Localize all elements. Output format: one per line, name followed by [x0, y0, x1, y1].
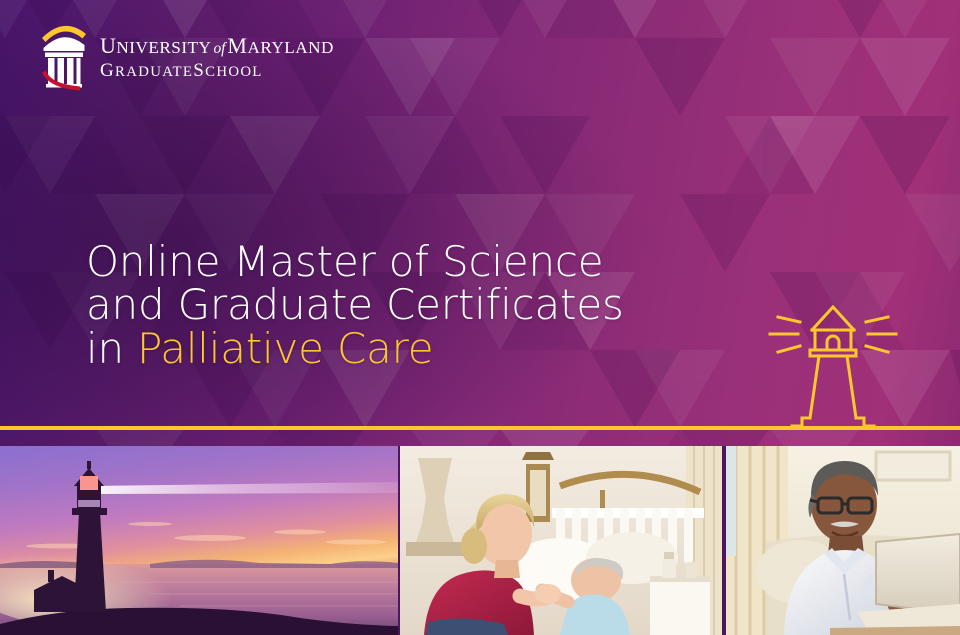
- photo-lighthouse-sunset: [0, 446, 398, 635]
- hero-section: UNIVERSITYofMARYLAND GRADUATESCHOOL Onli…: [0, 0, 960, 446]
- logo-g: G: [100, 60, 115, 81]
- logo-niversity: NIVERSITY: [116, 38, 211, 57]
- logo-of: of: [211, 40, 227, 57]
- logo-chool: CHOOL: [205, 64, 263, 80]
- logo-line-graduate-school: GRADUATESCHOOL: [100, 61, 334, 80]
- logo-line-university-of-maryland: UNIVERSITYofMARYLAND: [100, 35, 334, 57]
- university-logo[interactable]: UNIVERSITYofMARYLAND GRADUATESCHOOL: [38, 18, 334, 92]
- university-logo-text: UNIVERSITYofMARYLAND GRADUATESCHOOL: [100, 31, 334, 80]
- logo-m: M: [227, 33, 247, 58]
- headline-line-3-prefix: in: [86, 324, 137, 373]
- logo-raduate: RADUATE: [115, 64, 193, 80]
- headline-line-3: in Palliative Care: [86, 327, 624, 370]
- logo-s: S: [193, 60, 205, 81]
- logo-aryland: ARYLAND: [247, 38, 333, 57]
- logo-u: U: [100, 33, 116, 58]
- gold-horizontal-rule: [0, 426, 960, 430]
- photo-man-with-laptop: [726, 446, 960, 635]
- umb-pillar-logo-icon: [38, 18, 90, 92]
- lighthouse-icon: [762, 292, 904, 432]
- headline-line-1: Online Master of Science: [86, 240, 624, 283]
- headline-accent-palliative-care: Palliative Care: [137, 324, 433, 373]
- headline: Online Master of Science and Graduate Ce…: [86, 240, 624, 370]
- photo-nurse-with-patient: [400, 446, 722, 635]
- headline-line-2: and Graduate Certificates: [86, 283, 624, 326]
- palliative-care-banner: UNIVERSITYofMARYLAND GRADUATESCHOOL Onli…: [0, 0, 960, 635]
- photo-strip: [0, 446, 960, 635]
